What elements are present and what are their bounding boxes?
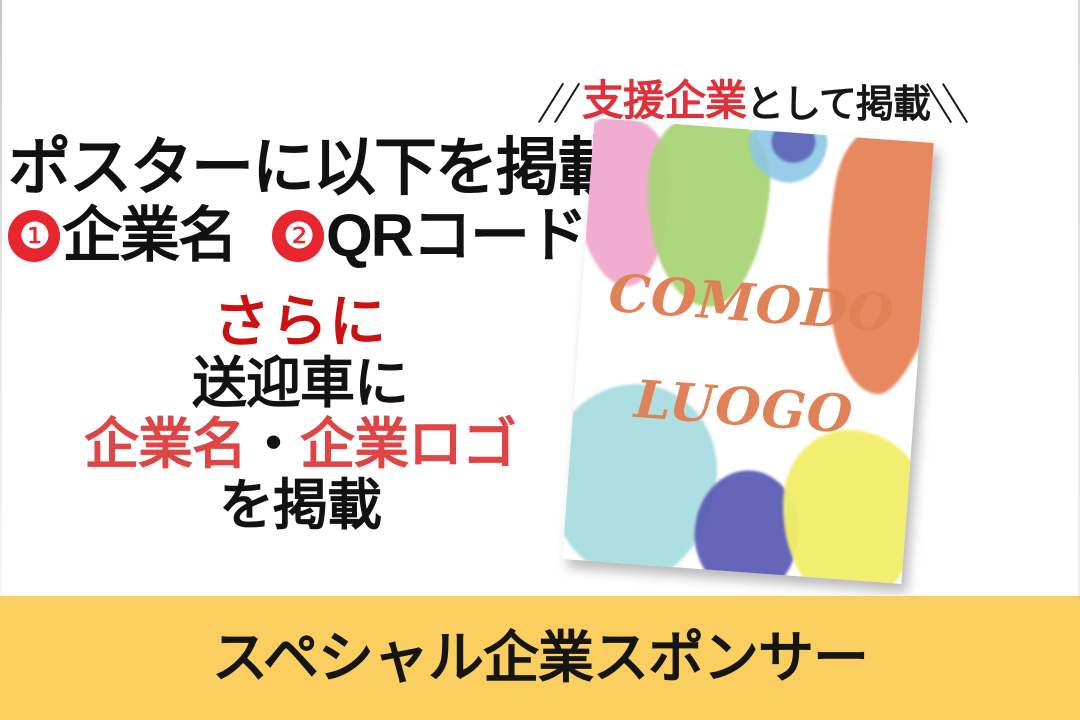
number-badge-1: ❶ — [8, 210, 60, 262]
top-banner-rest: として掲載 — [746, 86, 930, 124]
poster-photo: COMODO LUOGO — [562, 118, 933, 584]
headline-block: ポスターに以下を掲載 ❶ 企業名 ❷ QRコード — [8, 136, 633, 266]
slash-right-icon — [930, 77, 972, 129]
middle-post-line: を掲載 — [0, 476, 600, 535]
middle-red-row: 企業名 ・ 企業ロゴ — [0, 415, 600, 473]
watercolor-blob-yellow — [776, 425, 929, 584]
middle-text-block: さらに 送迎車に 企業名 ・ 企業ロゴ を掲載 — [0, 292, 600, 535]
middle-red-left: 企業名 — [84, 415, 246, 473]
bottom-banner: スペシャル企業スポンサー — [0, 596, 1080, 720]
number-badge-2: ❷ — [272, 210, 324, 262]
slash-left-icon — [540, 77, 582, 129]
poster-canvas: COMODO LUOGO — [562, 118, 933, 584]
headline-line-1: ポスターに以下を掲載 — [8, 136, 633, 200]
middle-vehicle-line: 送迎車に — [0, 354, 600, 413]
bottom-banner-label: スペシャル企業スポンサー — [212, 630, 868, 686]
promo-slide: 支援企業 として掲載 ポスターに以下を掲載 ❶ 企業名 ❷ QRコード さらに … — [0, 0, 1080, 720]
top-banner-highlight: 支援企業 — [582, 80, 746, 122]
headline-line-2: ❶ 企業名 ❷ QRコード — [8, 206, 633, 266]
middle-red-right: 企業ロゴ — [300, 415, 516, 473]
headline-item-2-label: QRコード — [326, 206, 586, 266]
middle-emphasis: さらに — [0, 292, 600, 352]
middle-separator: ・ — [246, 415, 300, 473]
headline-item-1-label: 企業名 — [62, 206, 236, 266]
